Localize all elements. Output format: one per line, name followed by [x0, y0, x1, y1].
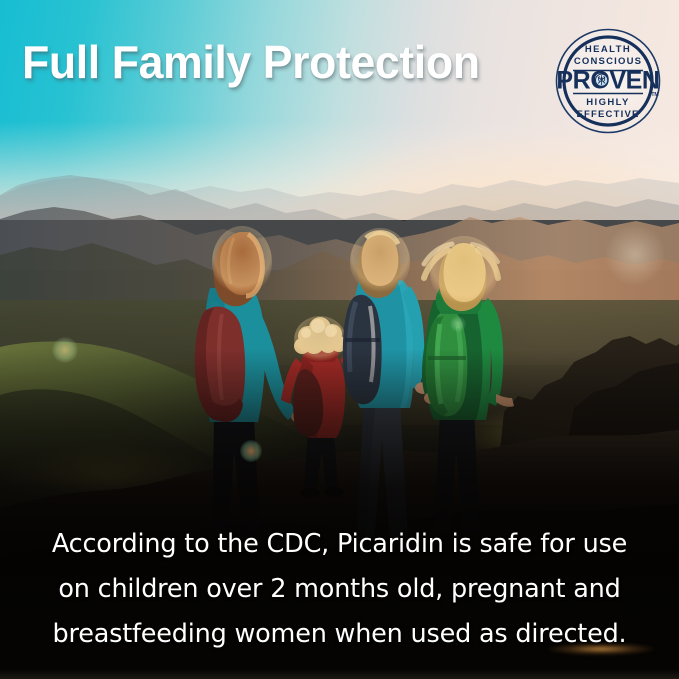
- mosquito-icon: [596, 74, 608, 86]
- badge-bottom-line-1: HIGHLY: [586, 97, 629, 108]
- bottom-edge-strip: [0, 669, 679, 679]
- promo-image-card: Full Family Protection HEALTH: [0, 0, 679, 679]
- caption-line-3: breastfeeding women when used as directe…: [26, 612, 653, 657]
- lens-flare-icon: [450, 316, 466, 332]
- badge-top-line-2: CONSCIOUS: [574, 56, 642, 67]
- lens-flare-icon: [52, 337, 78, 363]
- badge-bottom-line-2: EFFECTIVE: [576, 109, 639, 120]
- lens-flare-icon: [240, 440, 262, 462]
- badge-trademark: TM: [651, 92, 658, 98]
- caption-line-2: on children over 2 months old, pregnant …: [26, 567, 653, 612]
- caption-block: According to the CDC, Picaridin is safe …: [0, 522, 679, 657]
- proven-badge: HEALTH CONSCIOUS PROVEN TM HIG: [553, 26, 663, 136]
- caption-line-1: According to the CDC, Picaridin is safe …: [26, 522, 653, 567]
- badge-top-line-1: HEALTH: [585, 44, 631, 55]
- sun-bloom: [605, 225, 665, 285]
- page-title: Full Family Protection: [22, 36, 480, 88]
